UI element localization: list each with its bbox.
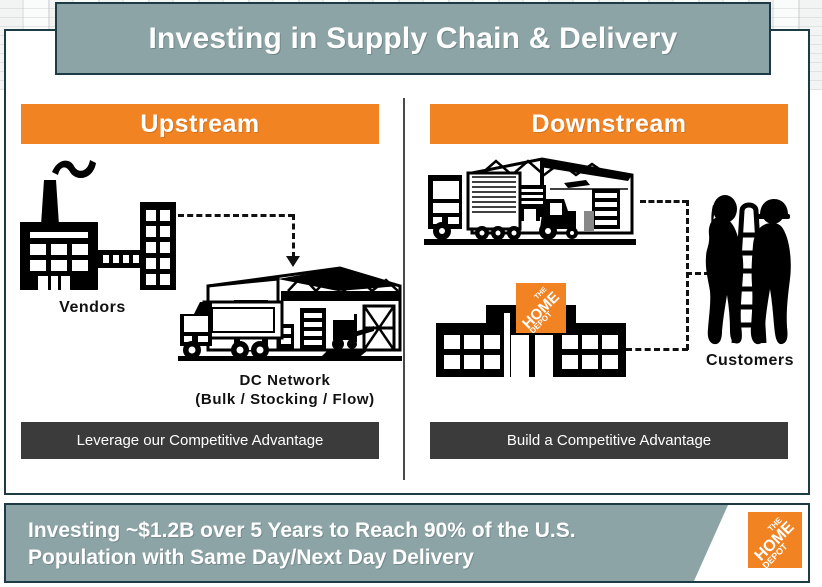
connector-vendors-to-dc-vertical (292, 214, 295, 258)
factory-icon (18, 150, 178, 295)
slide-canvas: Investing in Supply Chain & Delivery Ups… (0, 0, 822, 587)
footer-statement: Investing ~$1.2B over 5 Years to Reach 9… (28, 517, 688, 571)
upstream-header-bar: Upstream (21, 104, 379, 144)
upstream-caption-bar: Leverage our Competitive Advantage (21, 422, 379, 459)
dc-network-label-line2: (Bulk / Stocking / Flow) (160, 390, 410, 409)
customers-label: Customers (680, 352, 820, 370)
home-depot-logo: THE HOME DEPOT (748, 512, 802, 568)
connector-dock-to-customers-horizontal (640, 200, 688, 203)
column-divider (403, 98, 405, 480)
customers-silhouette-icon (694, 195, 802, 350)
footer-statement-line1: Investing ~$1.2B over 5 Years to Reach 9… (28, 517, 688, 544)
downstream-header-label: Downstream (531, 110, 686, 139)
dc-network-label: DC Network (Bulk / Stocking / Flow) (160, 371, 410, 409)
page-title: Investing in Supply Chain & Delivery (149, 22, 678, 56)
slide-title-plaque: Investing in Supply Chain & Delivery (55, 2, 771, 75)
home-depot-logo: THE HOME DEPOT (516, 283, 566, 333)
footer-statement-line2: Population with Same Day/Next Day Delive… (28, 544, 688, 571)
upstream-caption-label: Leverage our Competitive Advantage (77, 432, 324, 449)
downstream-caption-bar: Build a Competitive Advantage (430, 422, 788, 459)
connector-downstream-vertical (686, 200, 689, 350)
vendors-label: Vendors (20, 299, 165, 317)
footer-banner: Investing ~$1.2B over 5 Years to Reach 9… (4, 503, 810, 583)
downstream-header-bar: Downstream (430, 104, 788, 144)
connector-vendors-to-dc-horizontal (178, 214, 294, 217)
dc-network-label-line1: DC Network (160, 371, 410, 390)
warehouse-truck-icon (178, 258, 403, 368)
loading-dock-truck-icon (424, 155, 639, 250)
downstream-caption-label: Build a Competitive Advantage (507, 432, 711, 449)
upstream-header-label: Upstream (140, 110, 259, 139)
connector-store-to-customers-horizontal (626, 348, 688, 351)
